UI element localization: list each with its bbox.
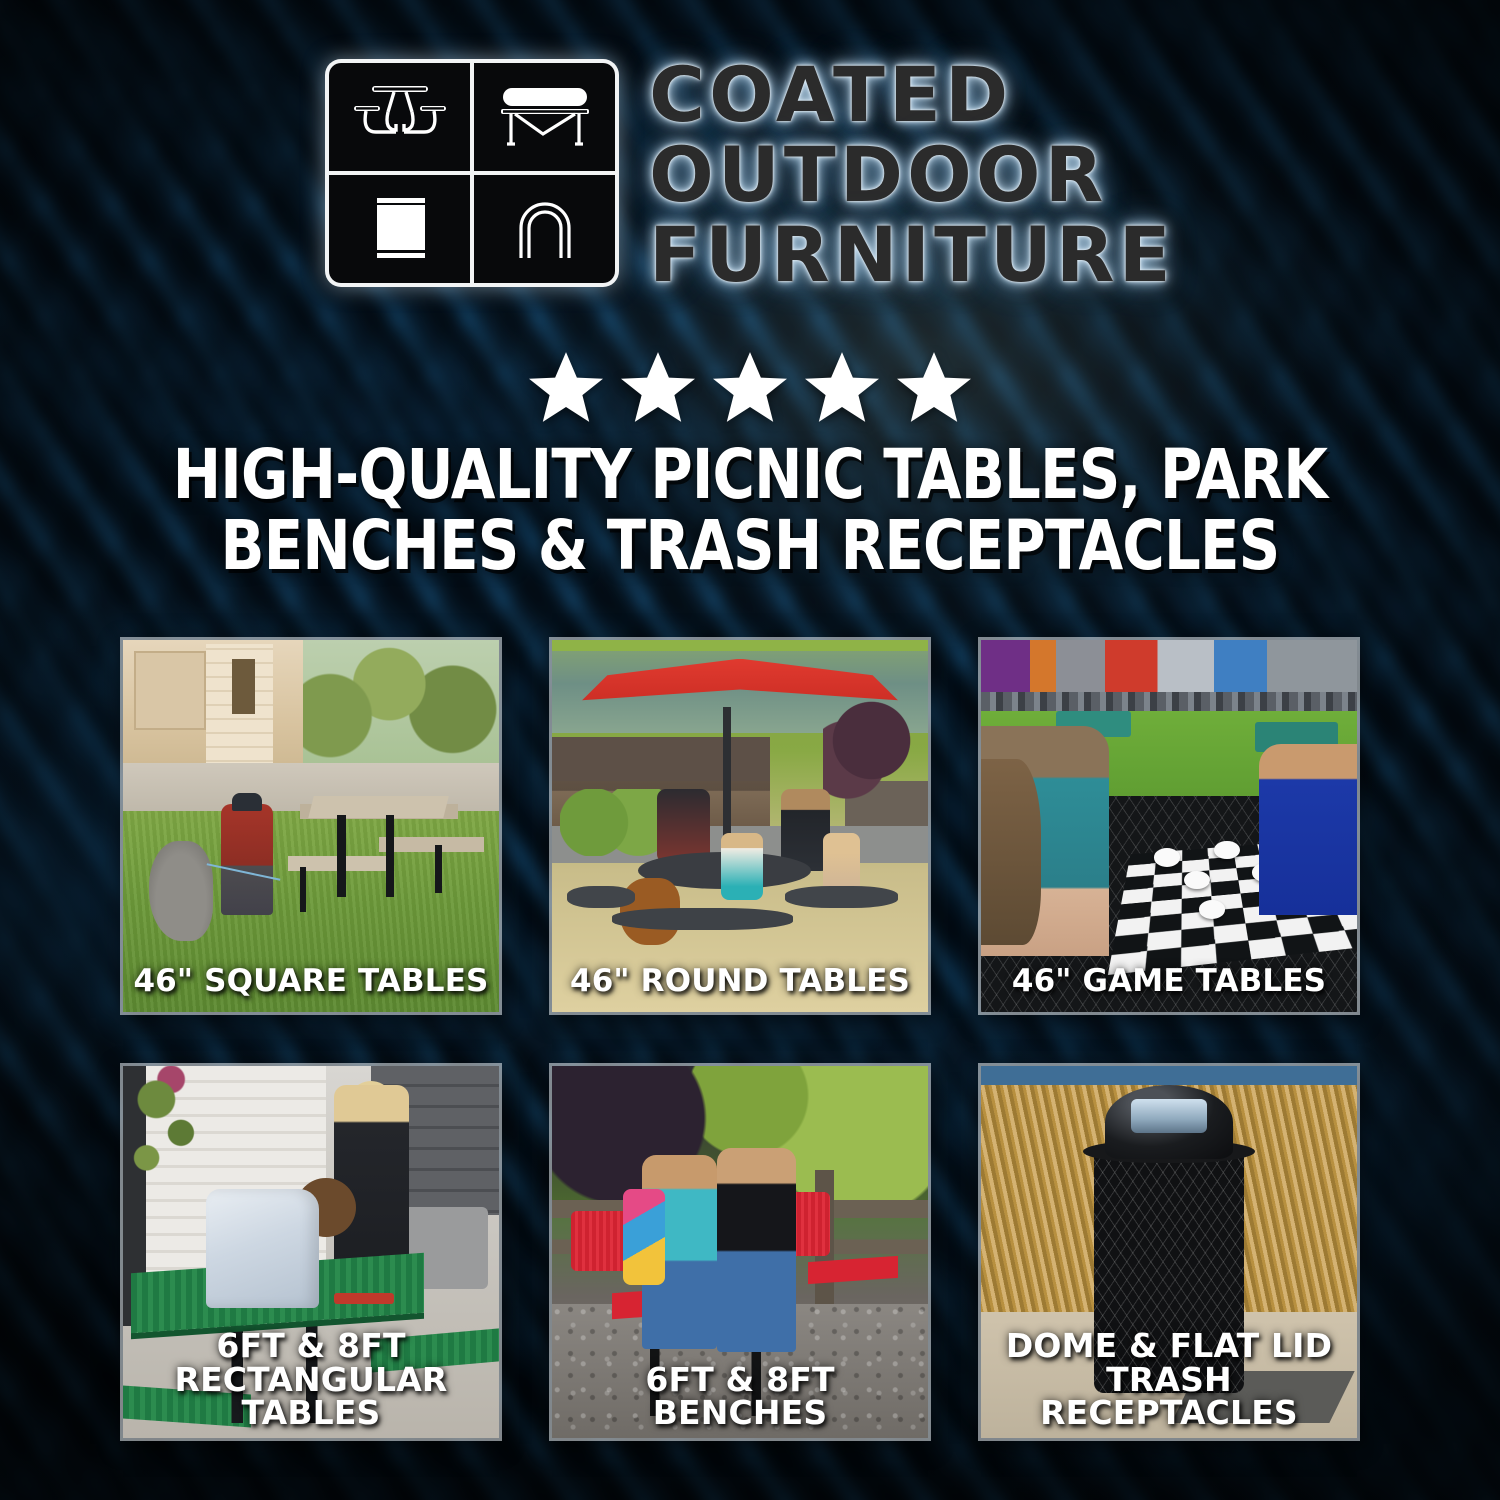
gallery-tile-game-tables[interactable]: 46" GAME TABLES <box>981 640 1357 1012</box>
headline-line-2: BENCHES & TRASH RECEPTACLES <box>108 511 1391 582</box>
gallery-tile-benches[interactable]: 6FT & 8FT BENCHES <box>552 1066 928 1438</box>
star-icon <box>529 352 603 422</box>
tile-caption: 46" ROUND TABLES <box>558 966 922 998</box>
star-icon <box>805 352 879 422</box>
brand-name: COATED OUTDOOR FURNITURE <box>649 56 1175 290</box>
trash-receptacle-icon <box>329 175 470 283</box>
tile-caption: DOME & FLAT LID TRASH RECEPTACLES <box>987 1329 1351 1430</box>
tile-caption-line-1: 46" SQUARE TABLES <box>133 963 488 999</box>
tile-caption: 6FT & 8FT RECTANGULAR TABLES <box>129 1329 493 1430</box>
star-icon <box>621 352 695 422</box>
photo-game-tables <box>981 640 1357 1012</box>
brand-name-line-3: FURNITURE <box>649 220 1175 290</box>
photo-square-tables <box>123 640 499 1012</box>
tile-caption: 46" SQUARE TABLES <box>129 966 493 998</box>
gallery-tile-round-tables[interactable]: 46" ROUND TABLES <box>552 640 928 1012</box>
photo-round-tables <box>552 640 928 1012</box>
brand-name-line-2: OUTDOOR <box>649 140 1175 210</box>
tile-caption-line-2: TRASH RECEPTACLES <box>987 1363 1351 1430</box>
star-rating <box>0 352 1500 422</box>
bike-rack-icon <box>474 175 615 283</box>
promo-poster: COATED OUTDOOR FURNITURE HIGH-QUALITY PI… <box>0 0 1500 1500</box>
picnic-table-icon <box>329 63 470 171</box>
tile-caption-line-1: 46" ROUND TABLES <box>570 963 910 999</box>
gallery-tile-rectangular-tables[interactable]: 6FT & 8FT RECTANGULAR TABLES <box>123 1066 499 1438</box>
tile-caption-line-2: BENCHES <box>558 1396 922 1430</box>
tile-caption: 6FT & 8FT BENCHES <box>558 1363 922 1430</box>
tile-caption-line-2: RECTANGULAR TABLES <box>129 1363 493 1430</box>
product-gallery: 46" SQUARE TABLES 46" ROUND TABLES <box>123 640 1385 1438</box>
star-icon <box>713 352 787 422</box>
gallery-tile-trash-receptacles[interactable]: DOME & FLAT LID TRASH RECEPTACLES <box>981 1066 1357 1438</box>
logo-mark[interactable] <box>325 59 619 287</box>
tile-caption-line-1: 46" GAME TABLES <box>1012 963 1326 999</box>
gallery-tile-square-tables[interactable]: 46" SQUARE TABLES <box>123 640 499 1012</box>
star-icon <box>897 352 971 422</box>
tile-caption: 46" GAME TABLES <box>987 966 1351 998</box>
brand-name-line-1: COATED <box>649 60 1175 130</box>
bench-icon <box>474 63 615 171</box>
headline-line-1: HIGH-QUALITY PICNIC TABLES, PARK <box>173 435 1328 515</box>
brand-header: COATED OUTDOOR FURNITURE <box>0 56 1500 290</box>
page-title: HIGH-QUALITY PICNIC TABLES, PARK BENCHES… <box>108 440 1391 582</box>
logo-lockup[interactable]: COATED OUTDOOR FURNITURE <box>325 56 1175 290</box>
